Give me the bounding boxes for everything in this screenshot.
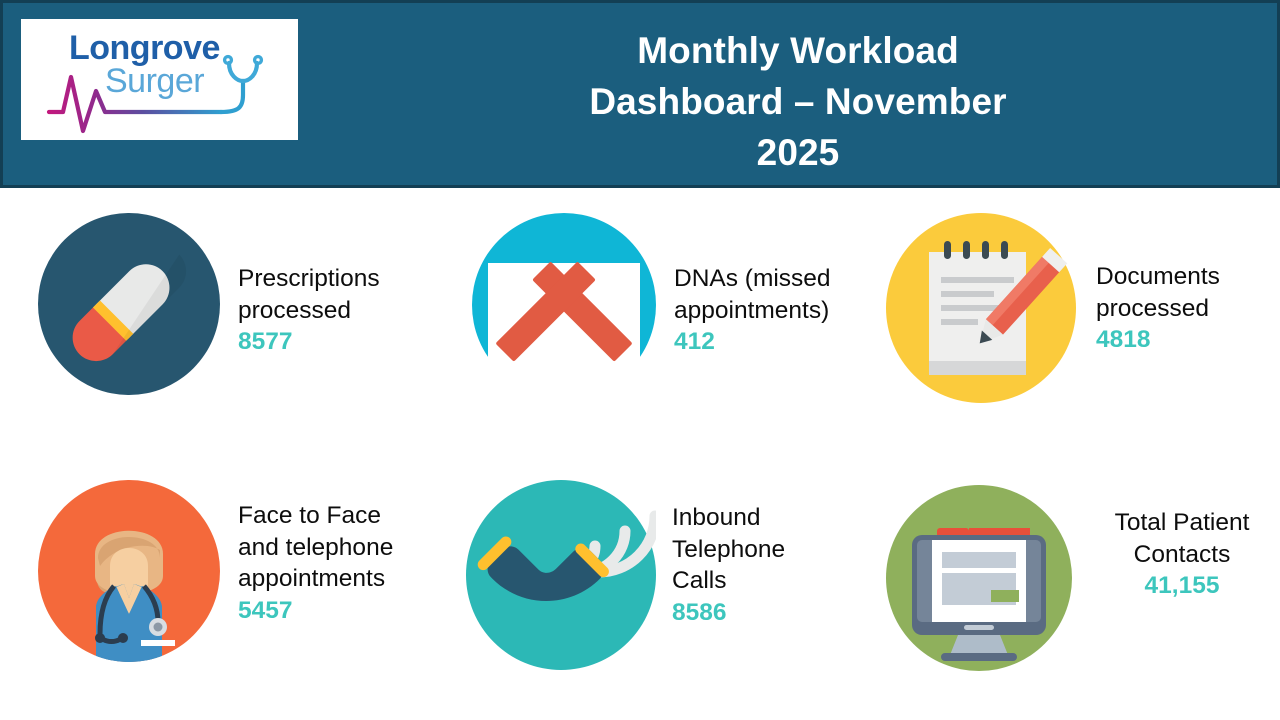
dashboard-slide: Longrove Surger Monthly Workload Dashboa… [0,0,1280,720]
metric-label-line: Contacts [1084,539,1280,571]
metric-text-calls: Inbound Telephone Calls 8586 [672,498,886,628]
metric-label-line: DNAs (missed [674,263,886,295]
metric-label-line: Telephone [672,534,886,566]
metric-label-line: processed [1096,293,1280,325]
metric-label-line: processed [238,295,468,327]
metric-card-calls[interactable]: Inbound Telephone Calls 8586 [466,480,886,670]
metrics-grid: Prescriptions processed 8577 DNAs (misse… [0,195,1280,720]
missed-appointment-icon [466,213,662,403]
metric-label-line: appointments) [674,295,886,327]
metric-label-line: Calls [672,565,886,597]
metric-value-appointments: 5457 [238,595,468,627]
metric-card-dnas[interactable]: DNAs (missed appointments) 412 [466,213,886,403]
metric-card-prescriptions[interactable]: Prescriptions processed 8577 [38,213,468,395]
notepad-pencil-icon [886,213,1076,403]
practice-logo: Longrove Surger [21,19,298,140]
metric-label-line: Total Patient [1084,507,1280,539]
svg-text:Surger: Surger [105,62,204,100]
metric-label-line: appointments [238,563,468,595]
page-title-line-1: Monthly Workload [333,25,1263,76]
metric-label-line: Face to Face [238,500,468,532]
metric-card-contacts[interactable]: Total Patient Contacts 41,155 [886,485,1280,671]
doctor-icon [38,480,220,662]
telephone-icon [466,480,656,670]
metric-label-line: Documents [1096,261,1280,293]
metric-text-prescriptions: Prescriptions processed 8577 [238,259,468,358]
page-title-line-3: 2025 [333,127,1263,178]
metric-text-contacts: Total Patient Contacts 41,155 [1084,503,1280,602]
page-title: Monthly Workload Dashboard – November 20… [333,25,1263,178]
metric-value-calls: 8586 [672,597,886,629]
dashboard-header: Longrove Surger Monthly Workload Dashboa… [0,0,1280,188]
metric-text-appointments: Face to Face and telephone appointments … [238,496,468,626]
metric-text-dnas: DNAs (missed appointments) 412 [674,259,886,358]
metric-label-line: and telephone [238,532,468,564]
metric-label-line: Inbound [672,502,886,534]
page-title-line-2: Dashboard – November [333,76,1263,127]
metric-card-documents[interactable]: Documents processed 4818 [886,213,1280,403]
pill-icon [38,213,220,395]
metric-value-contacts: 41,155 [1084,570,1280,602]
metric-card-appointments[interactable]: Face to Face and telephone appointments … [38,480,468,662]
metric-value-prescriptions: 8577 [238,326,468,358]
longrove-surgery-logo-graphic: Longrove Surger [21,19,298,140]
metric-text-documents: Documents processed 4818 [1096,257,1280,356]
computer-monitor-icon [886,485,1072,671]
metric-label-line: Prescriptions [238,263,468,295]
metric-value-dnas: 412 [674,326,886,358]
metric-value-documents: 4818 [1096,324,1280,356]
